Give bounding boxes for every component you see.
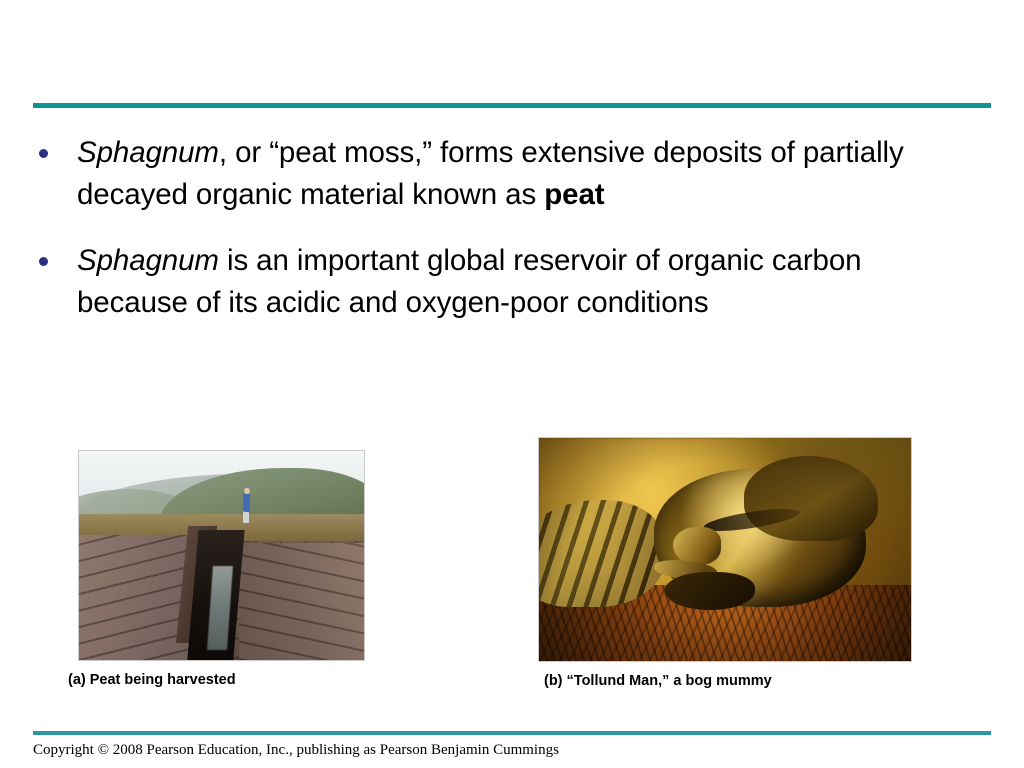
figure-group: (a) Peat being harvested (b) “Tollund Ma…	[0, 437, 1024, 702]
bullet-list: Sphagnum, or “peat moss,” forms extensiv…	[33, 132, 973, 348]
bottom-divider-rule	[33, 731, 991, 735]
bullet-marker-icon	[33, 240, 77, 266]
bullet-text-2: Sphagnum is an important global reservoi…	[77, 240, 973, 324]
slide: Sphagnum, or “peat moss,” forms extensiv…	[0, 0, 1024, 768]
genus-name-sphagnum: Sphagnum	[77, 244, 219, 277]
term-peat: peat	[544, 178, 604, 211]
photo-peat-harvesting	[78, 450, 365, 661]
worker-head	[244, 488, 249, 495]
vignette	[539, 438, 911, 661]
worker-body	[243, 493, 250, 512]
figure-caption-b: (b) “Tollund Man,” a bog mummy	[544, 673, 912, 689]
photo-tollund-man	[538, 437, 912, 662]
figure-tollund-man: (b) “Tollund Man,” a bog mummy	[538, 437, 912, 689]
list-item: Sphagnum, or “peat moss,” forms extensiv…	[33, 132, 973, 216]
bullet-marker-icon	[33, 132, 77, 158]
worker-legs	[243, 511, 249, 524]
copyright-footer: Copyright © 2008 Pearson Education, Inc.…	[33, 742, 559, 759]
figure-caption-a: (a) Peat being harvested	[68, 672, 365, 688]
cut-peat-bricks-right	[239, 543, 364, 660]
bullet-text-1: Sphagnum, or “peat moss,” forms extensiv…	[77, 132, 973, 216]
top-divider-rule	[33, 103, 991, 108]
list-item: Sphagnum is an important global reservoi…	[33, 240, 973, 324]
genus-name-sphagnum: Sphagnum	[77, 136, 219, 169]
figure-peat-harvesting: (a) Peat being harvested	[78, 450, 365, 688]
